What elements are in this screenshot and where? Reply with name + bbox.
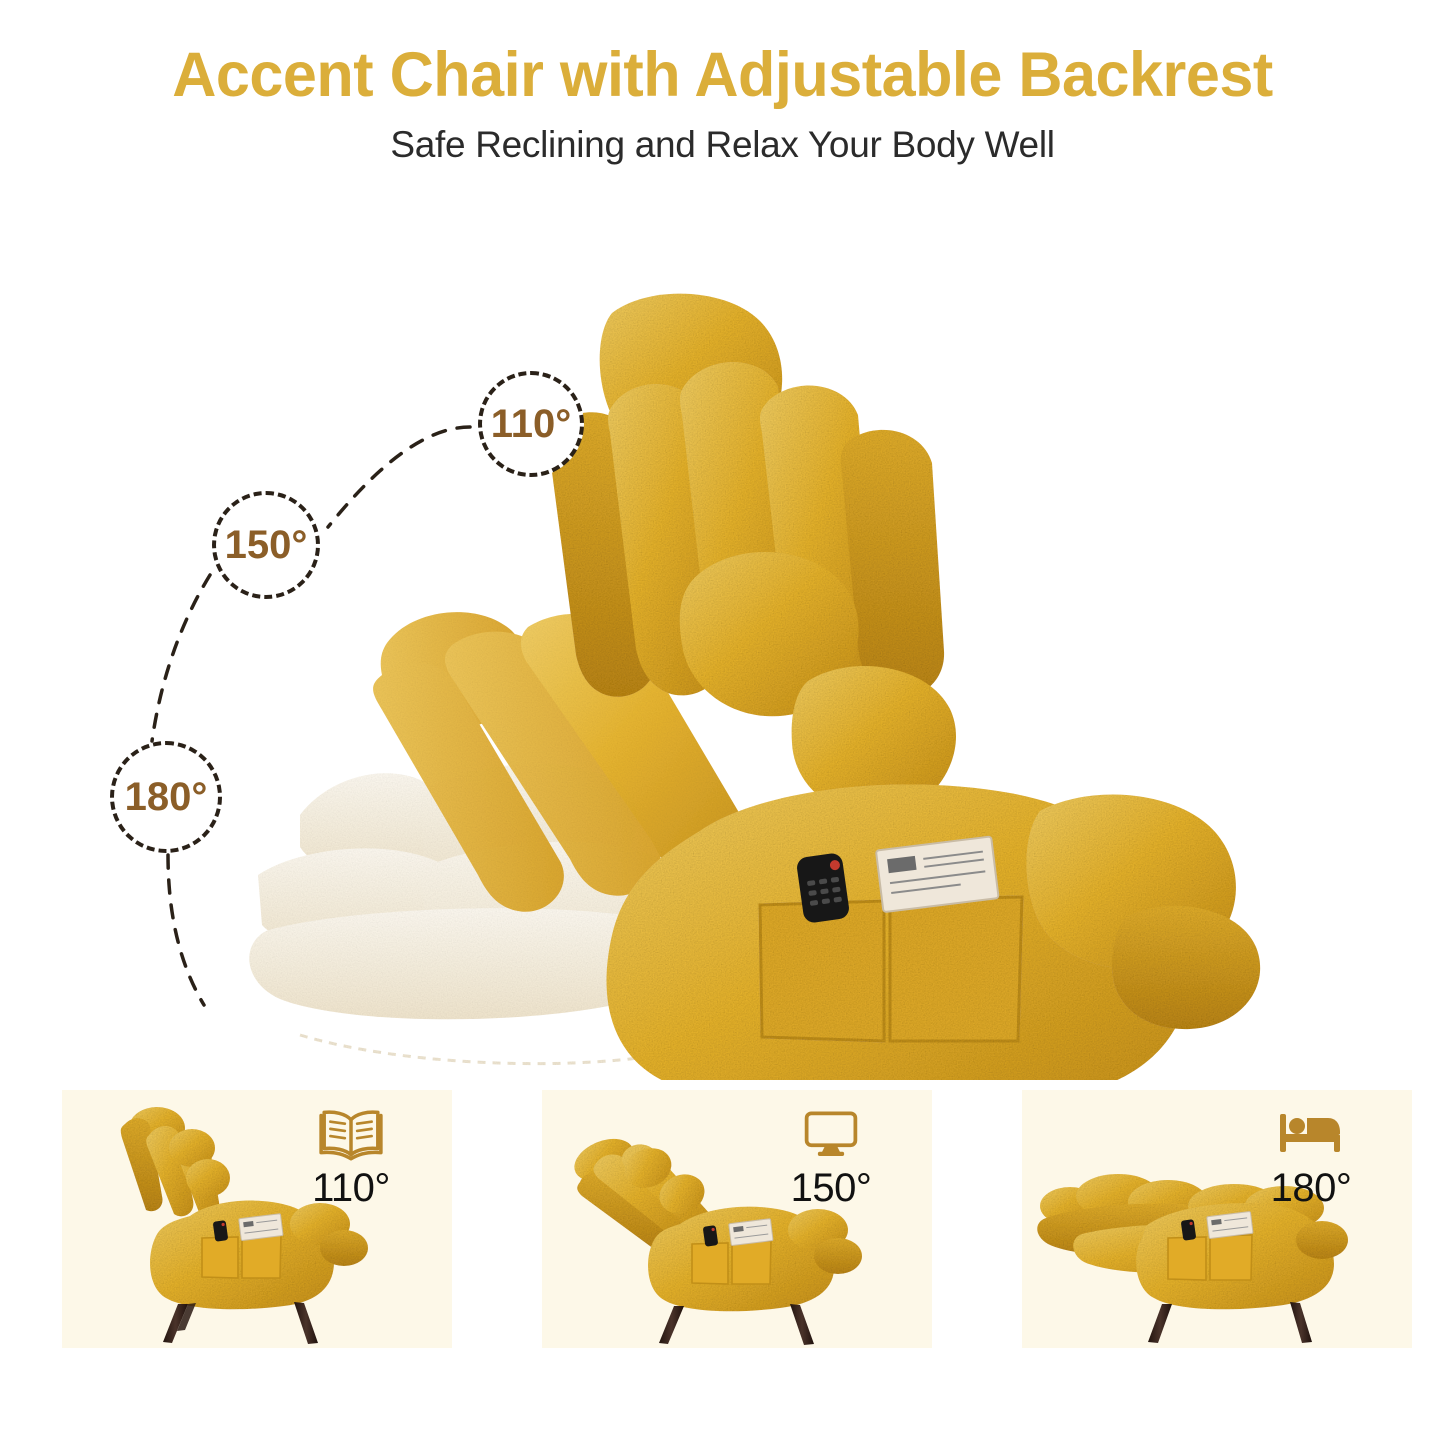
angle-callout-180: 180°	[110, 741, 222, 853]
page-subtitle: Safe Reclining and Relax Your Body Well	[0, 108, 1445, 166]
scenario-panels: 110° Working & Reading	[0, 1090, 1445, 1390]
bed-icon	[1276, 1102, 1346, 1164]
hero-illustration: 110° 150° 180°	[0, 175, 1445, 1080]
page-title: Accent Chair with Adjustable Backrest	[22, 0, 1424, 108]
scenario-panel-working-reading: 110° Working & Reading	[62, 1090, 452, 1348]
angle-callout-150: 150°	[212, 491, 320, 599]
panel-angle-150: 150°	[756, 1166, 906, 1211]
panel-angle-110: 110°	[276, 1166, 426, 1211]
angle-callout-180-label: 180°	[125, 775, 208, 820]
angle-callout-150-label: 150°	[225, 523, 308, 568]
angle-callout-110: 110°	[478, 371, 584, 477]
scenario-panel-watching-rest: 150° Watching & Taking a Rest	[542, 1090, 932, 1348]
angle-callout-110-label: 110°	[491, 402, 572, 447]
hero-chair-graphic	[0, 175, 1445, 1080]
remote-control-icon	[796, 852, 851, 924]
side-pockets	[760, 897, 1022, 1041]
panel-badge-150: 150°	[756, 1102, 906, 1211]
magazine-icon	[876, 836, 999, 912]
book-icon	[318, 1102, 384, 1164]
panel-badge-180: 180°	[1236, 1102, 1386, 1211]
scenario-panel-napping: 180° Napping	[1022, 1090, 1412, 1348]
panel-badge-110: 110°	[276, 1102, 426, 1211]
monitor-icon	[801, 1102, 861, 1164]
header-block: Accent Chair with Adjustable Backrest Sa…	[0, 0, 1445, 166]
panel-angle-180: 180°	[1236, 1166, 1386, 1211]
